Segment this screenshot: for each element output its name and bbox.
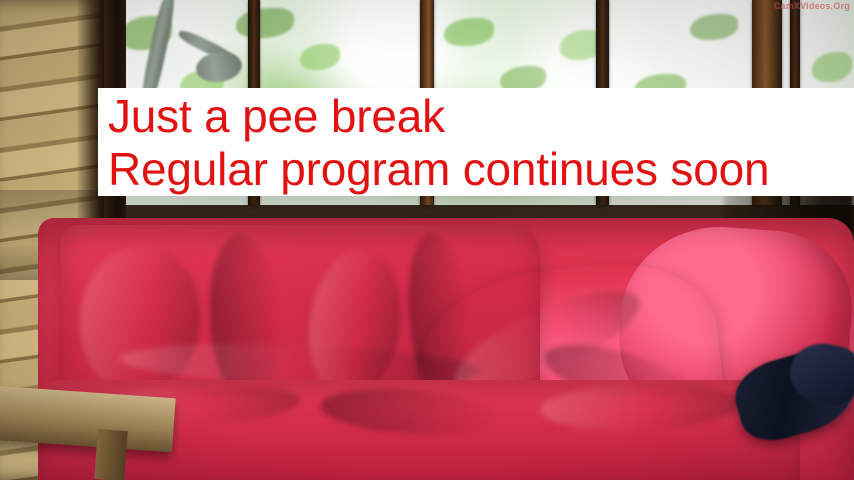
video-frame: CamXVideos.Org Just a pee break Regular … bbox=[0, 0, 854, 480]
text-overlay-card: Just a pee break Regular program continu… bbox=[98, 88, 854, 196]
site-watermark: CamXVideos.Org bbox=[774, 1, 850, 11]
scene-background bbox=[0, 0, 854, 480]
overlay-line-2: Regular program continues soon bbox=[108, 143, 854, 196]
overlay-line-1: Just a pee break bbox=[108, 90, 854, 143]
bench-leg bbox=[94, 429, 127, 480]
